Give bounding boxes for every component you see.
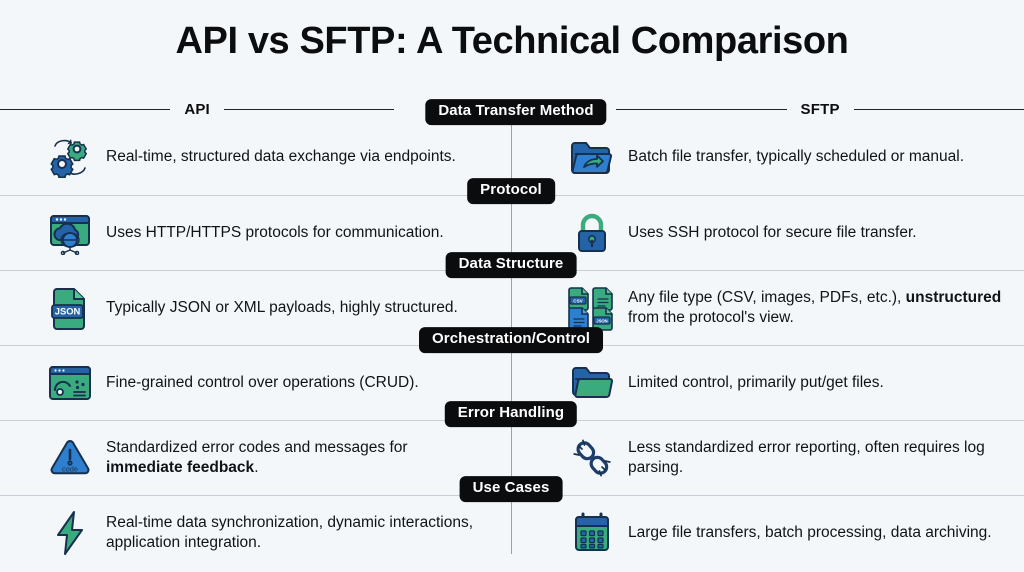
header-rule-mid-left — [224, 109, 394, 110]
row-sftp-cell: Batch file transfer, typically scheduled… — [512, 120, 1024, 195]
row-sftp-text: Less standardized error reporting, often… — [624, 438, 1002, 479]
row-sftp-text: Uses SSH protocol for secure file transf… — [624, 223, 1002, 243]
column-header-api: API — [170, 102, 224, 117]
header-rule-left — [0, 109, 170, 110]
row-sftp-cell: Uses SSH protocol for secure file transf… — [512, 196, 1024, 270]
row-api-cell: Real-time, structured data exchange via … — [0, 120, 512, 195]
row-api-cell: Uses HTTP/HTTPS protocols for communicat… — [0, 196, 512, 270]
lightning-bolt-icon — [38, 505, 102, 561]
row-api-cell: Fine-grained control over operations (CR… — [0, 346, 512, 420]
column-header-sftp: SFTP — [787, 102, 854, 117]
row-api-text: Real-time data synchronization, dynamic … — [102, 513, 486, 554]
row-sftp-cell: Limited control, primarily put/get files… — [512, 346, 1024, 420]
row-api-text: Real-time, structured data exchange via … — [102, 147, 486, 167]
row-sftp-text: Large file transfers, batch processing, … — [624, 523, 1002, 543]
row-sftp-cell: Large file transfers, batch processing, … — [512, 496, 1024, 570]
row-api-cell: code Standardized error codes and messag… — [0, 421, 512, 495]
header-rule-right — [854, 109, 1024, 110]
broken-chain-link-icon — [560, 430, 624, 486]
row-sftp-text: Any file type (CSV, images, PDFs, etc.),… — [624, 288, 1002, 329]
json-file-icon: JSON — [38, 280, 102, 336]
gears-sync-icon — [38, 130, 102, 186]
json-badge-label: JSON — [55, 306, 81, 317]
header-rule-mid-right — [616, 109, 786, 110]
row-sftp-text: Batch file transfer, typically scheduled… — [624, 147, 1002, 167]
row-api-text: Fine-grained control over operations (CR… — [102, 373, 486, 393]
browser-cloud-globe-icon — [38, 205, 102, 261]
row-api-text: Typically JSON or XML payloads, highly s… — [102, 298, 486, 318]
dashboard-controls-icon — [38, 355, 102, 411]
file-json-label: JSON — [596, 318, 607, 323]
table-row: Real-time data synchronization, dynamic … — [0, 495, 1024, 570]
section-pill: Protocol — [467, 178, 555, 204]
section-pill: Data Transfer Method — [425, 99, 606, 125]
error-code-label: code — [62, 465, 78, 474]
folder-arrow-icon — [560, 130, 624, 186]
file-csv-label: CSV — [573, 298, 583, 303]
row-sftp-text: Limited control, primarily put/get files… — [624, 373, 1002, 393]
row-api-text: Uses HTTP/HTTPS protocols for communicat… — [102, 223, 486, 243]
page-title: API vs SFTP: A Technical Comparison — [0, 0, 1024, 60]
row-api-text: Standardized error codes and messages fo… — [102, 438, 486, 479]
section-pill: Orchestration/Control — [419, 327, 603, 353]
section-pill: Use Cases — [460, 476, 563, 502]
section-pill: Error Handling — [445, 401, 577, 427]
warning-triangle-code-icon: code — [38, 430, 102, 486]
calendar-icon — [560, 505, 624, 561]
row-api-cell: Real-time data synchronization, dynamic … — [0, 496, 512, 570]
row-sftp-cell: Less standardized error reporting, often… — [512, 421, 1024, 495]
section-pill: Data Structure — [446, 252, 577, 278]
